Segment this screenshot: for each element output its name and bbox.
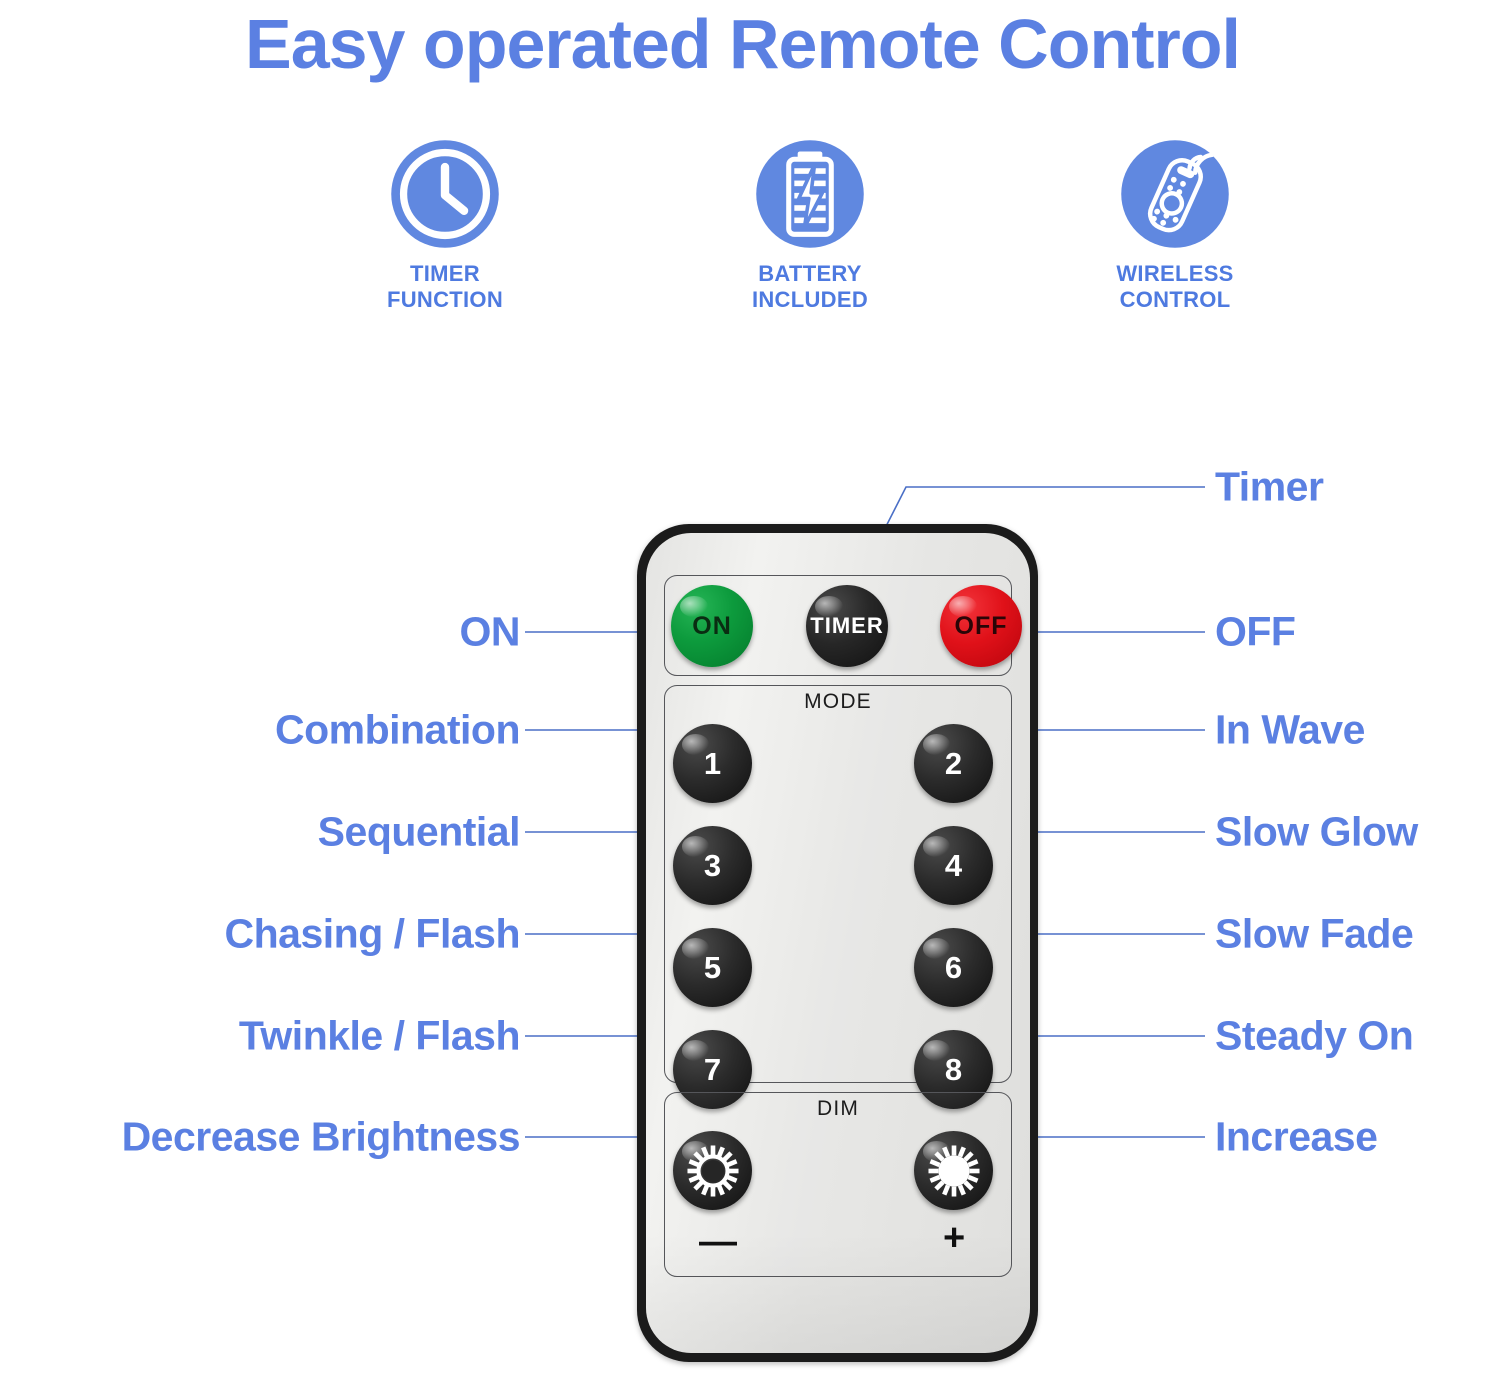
page-title: Easy operated Remote Control (0, 4, 1485, 84)
infographic-canvas: Easy operated Remote Control TIMER FUNCT… (0, 0, 1485, 1388)
decrease-brightness-button[interactable] (673, 1131, 752, 1210)
plus-sign-label: + (943, 1219, 965, 1257)
remote-signal-icon (1119, 138, 1231, 250)
mode-panel-title: MODE (646, 690, 1030, 714)
mode-button-6[interactable]: 6 (914, 928, 993, 1007)
callout-increase: Increase (1215, 1117, 1377, 1158)
callout-off: OFF (1215, 612, 1295, 653)
mode-button-1[interactable]: 1 (673, 724, 752, 803)
feature-battery-included: BATTERY INCLUDED (695, 138, 925, 312)
feature-label: BATTERY INCLUDED (752, 261, 868, 312)
callout-sequential: Sequential (0, 812, 520, 853)
callout-timer: Timer (1215, 467, 1323, 508)
mode-button-2[interactable]: 2 (914, 724, 993, 803)
battery-icon (754, 138, 866, 250)
sun-bright-icon (925, 1142, 983, 1200)
callout-in-wave: In Wave (1215, 710, 1365, 751)
off-button[interactable]: OFF (940, 585, 1022, 667)
minus-sign-label: — (699, 1223, 737, 1261)
callout-twinkle-flash: Twinkle / Flash (0, 1016, 520, 1057)
clock-icon (389, 138, 501, 250)
callout-slow-fade: Slow Fade (1215, 914, 1413, 955)
feature-highlights: TIMER FUNCTION BATTERY INCLUDED (330, 138, 1290, 328)
increase-brightness-button[interactable] (914, 1131, 993, 1210)
dim-panel-title: DIM (646, 1097, 1030, 1121)
mode-button-5[interactable]: 5 (673, 928, 752, 1007)
mode-button-3[interactable]: 3 (673, 826, 752, 905)
callout-steady-on: Steady On (1215, 1016, 1413, 1057)
remote-faceplate: ON TIMER OFF MODE 1 2 3 4 5 6 7 8 DIM (646, 533, 1030, 1353)
callout-decrease-brightness: Decrease Brightness (0, 1117, 520, 1158)
callout-on: ON (0, 612, 520, 653)
feature-label: TIMER FUNCTION (387, 261, 503, 312)
callout-slow-glow: Slow Glow (1215, 812, 1418, 853)
feature-label: WIRELESS CONTROL (1116, 261, 1233, 312)
feature-timer-function: TIMER FUNCTION (330, 138, 560, 312)
mode-button-4[interactable]: 4 (914, 826, 993, 905)
remote-control-device: ON TIMER OFF MODE 1 2 3 4 5 6 7 8 DIM (637, 524, 1038, 1362)
feature-wireless-control: WIRELESS CONTROL (1060, 138, 1290, 312)
callout-combination: Combination (0, 710, 520, 751)
on-button[interactable]: ON (671, 585, 753, 667)
callout-chasing-flash: Chasing / Flash (0, 914, 520, 955)
sun-dim-icon (684, 1142, 742, 1200)
timer-button[interactable]: TIMER (806, 585, 888, 667)
